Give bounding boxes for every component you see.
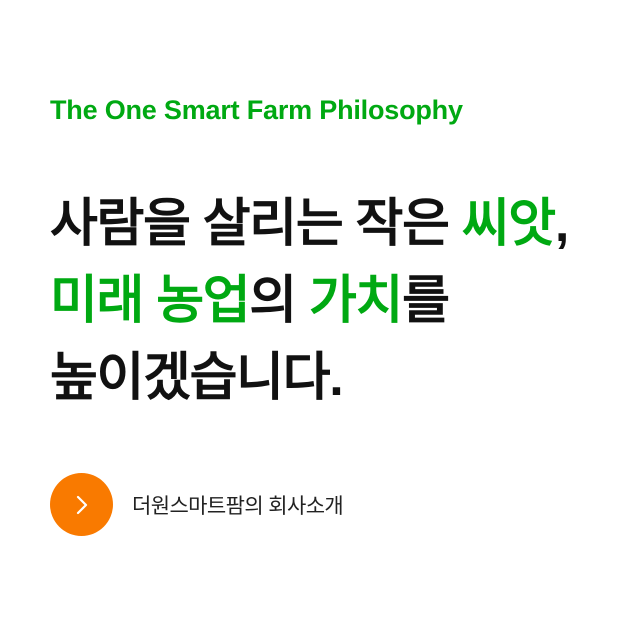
cta-circle-button[interactable] [50, 473, 113, 536]
chevron-right-icon [74, 494, 90, 516]
eyebrow-text: The One Smart Farm Philosophy [50, 96, 463, 126]
company-intro-link[interactable]: 더원스마트팜의 회사소개 [50, 473, 343, 536]
headline-segment: 를 [402, 272, 449, 330]
headline-segment-accent: 미래 농업 [50, 272, 249, 330]
headline-segment: , [555, 195, 568, 253]
headline-line-1: 사람을 살리는 작은 씨앗, [50, 186, 620, 263]
page-title: 사람을 살리는 작은 씨앗, 미래 농업의 가치를 높이겠습니다. [50, 186, 620, 417]
headline-segment: 의 [249, 272, 309, 330]
hero-section: The One Smart Farm Philosophy 사람을 살리는 작은… [0, 0, 640, 617]
headline-segment: 사람을 살리는 작은 [50, 195, 462, 253]
cta-label: 더원스마트팜의 회사소개 [132, 490, 343, 520]
headline-line-3: 높이겠습니다. [50, 340, 620, 417]
headline-segment-accent: 가치 [309, 272, 402, 330]
headline-line-2: 미래 농업의 가치를 [50, 263, 620, 340]
headline-segment: 높이겠습니다. [50, 349, 342, 407]
headline-segment-accent: 씨앗 [462, 195, 555, 253]
